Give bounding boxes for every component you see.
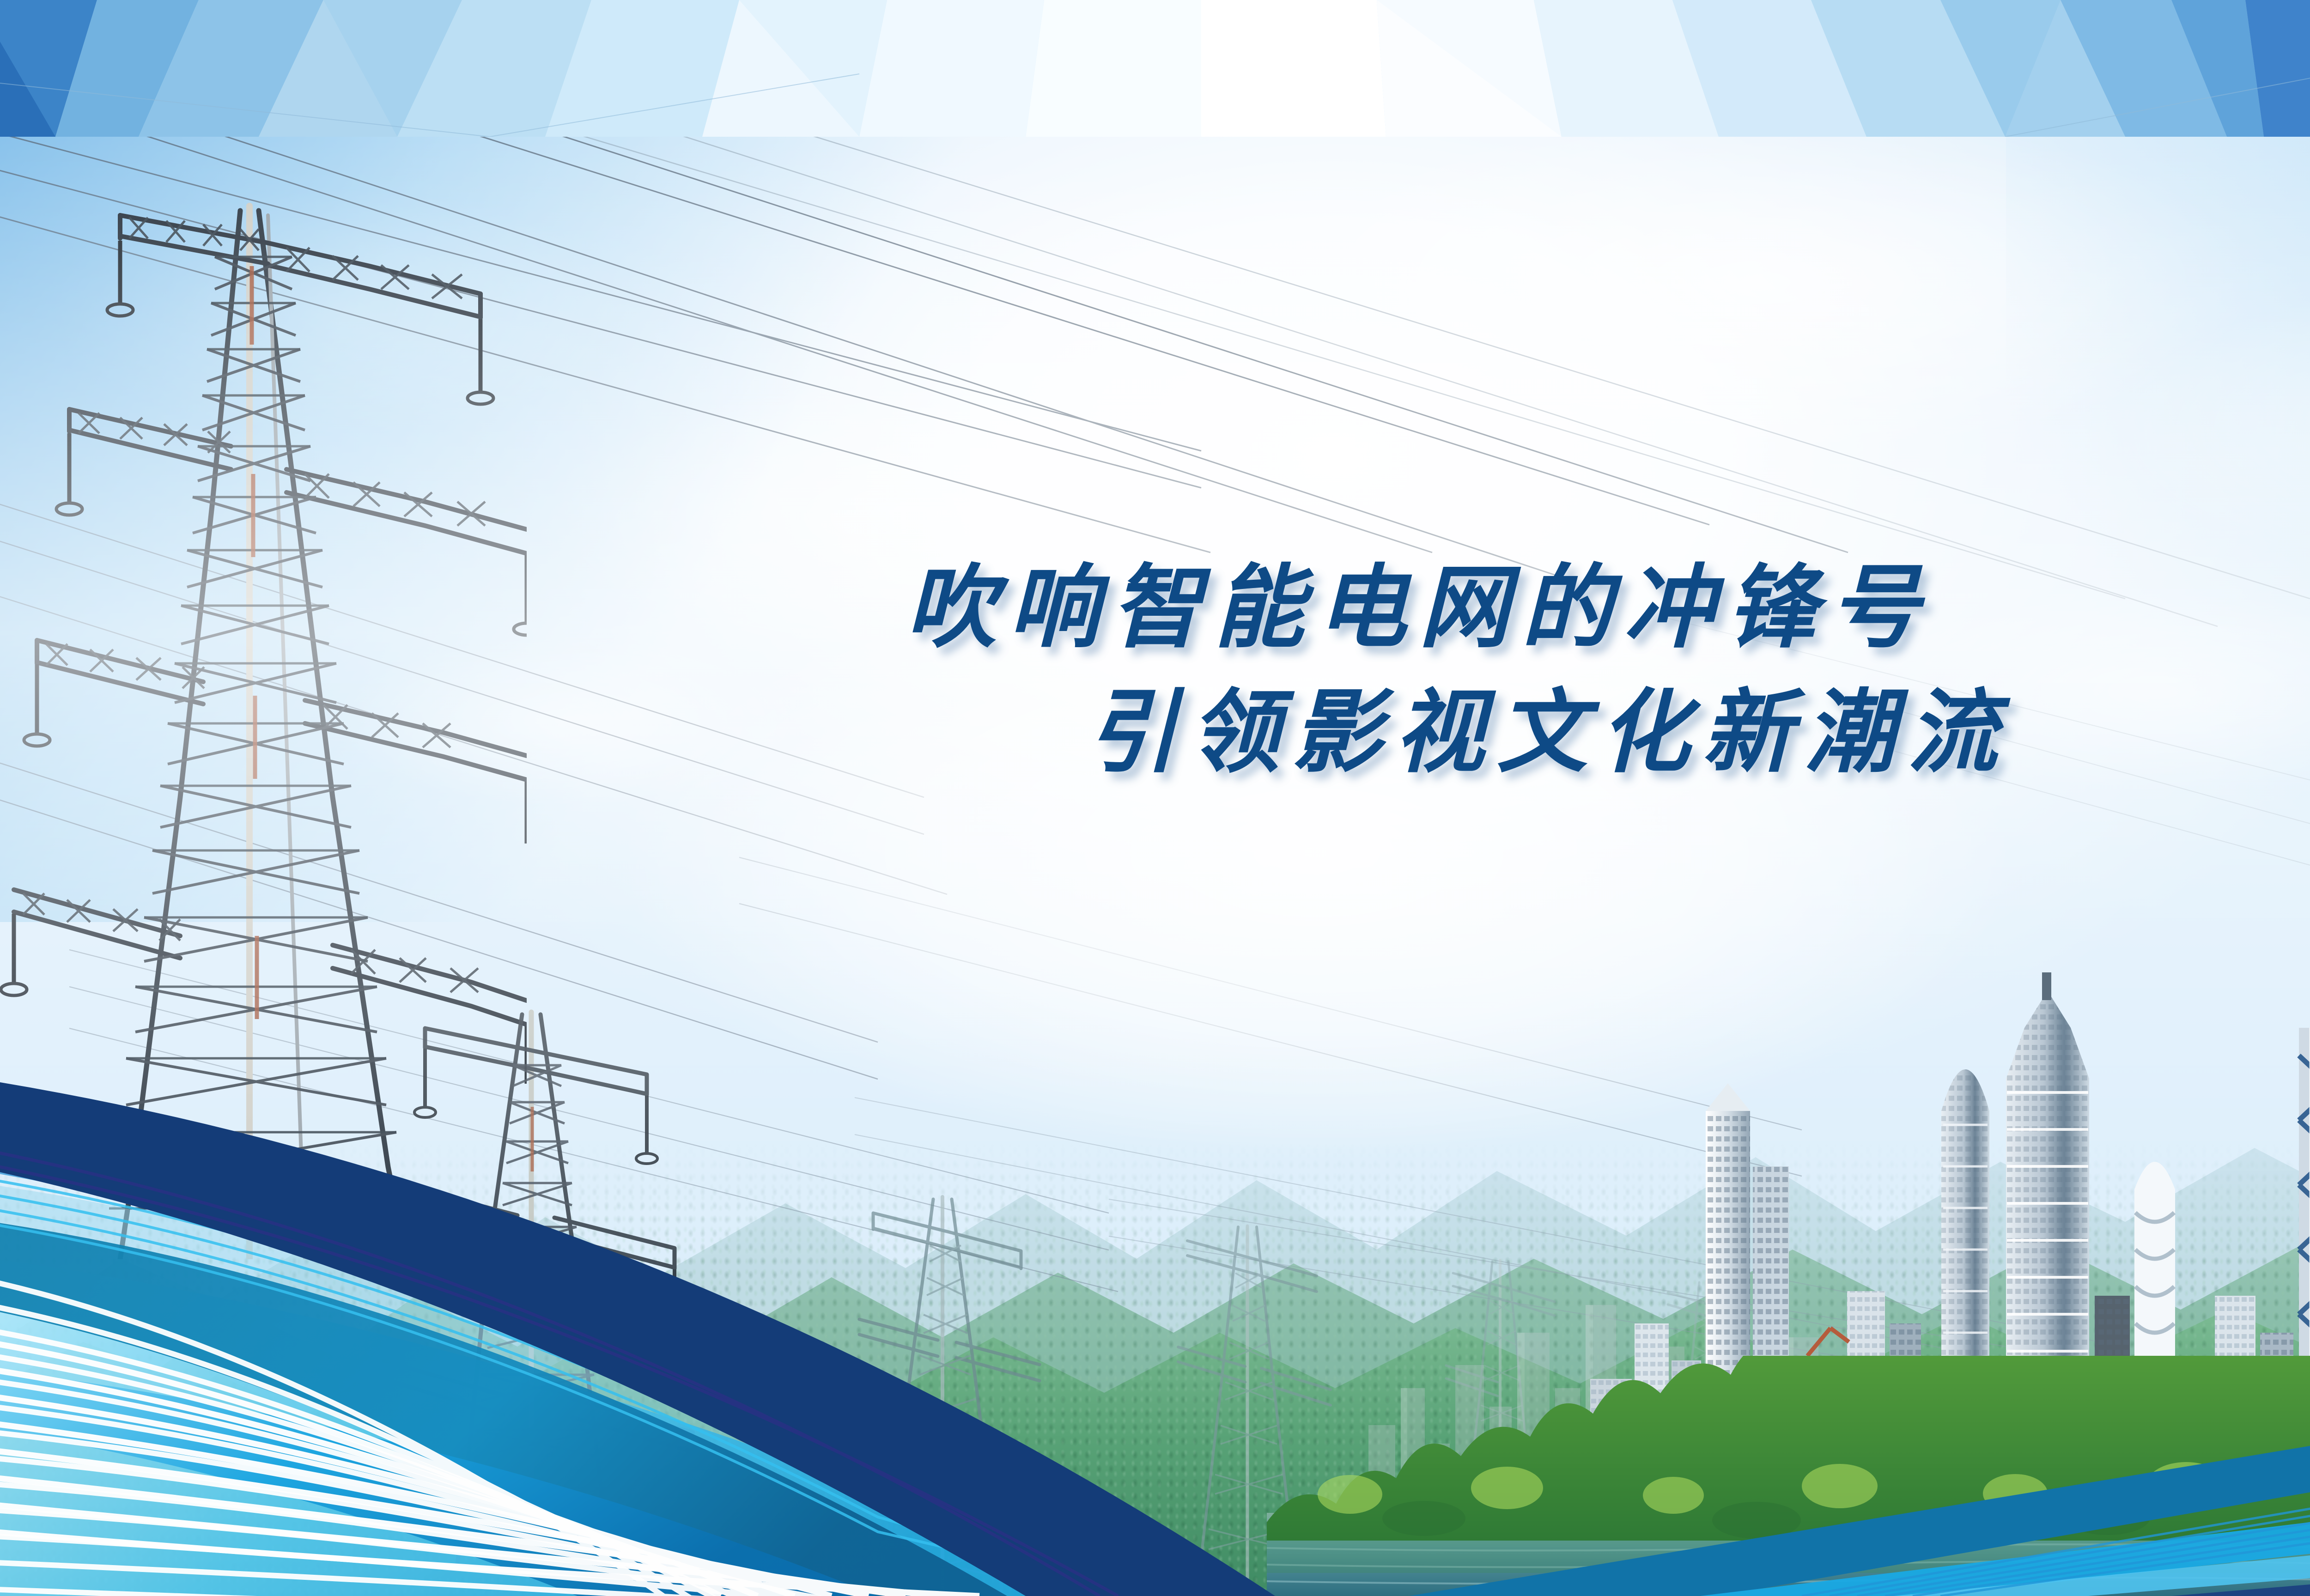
riverside-greenbelt — [1267, 1356, 2310, 1596]
scene-photo — [0, 137, 2310, 1596]
transmission-tower-distant-1 — [822, 1181, 1063, 1596]
top-polygon-band — [0, 0, 2310, 137]
banner-root: 吹响智能电网的冲锋号 引领影视文化新潮流 — [0, 0, 2310, 1596]
sky-blue-right — [2006, 137, 2310, 830]
transmission-tower-secondary — [351, 987, 721, 1564]
